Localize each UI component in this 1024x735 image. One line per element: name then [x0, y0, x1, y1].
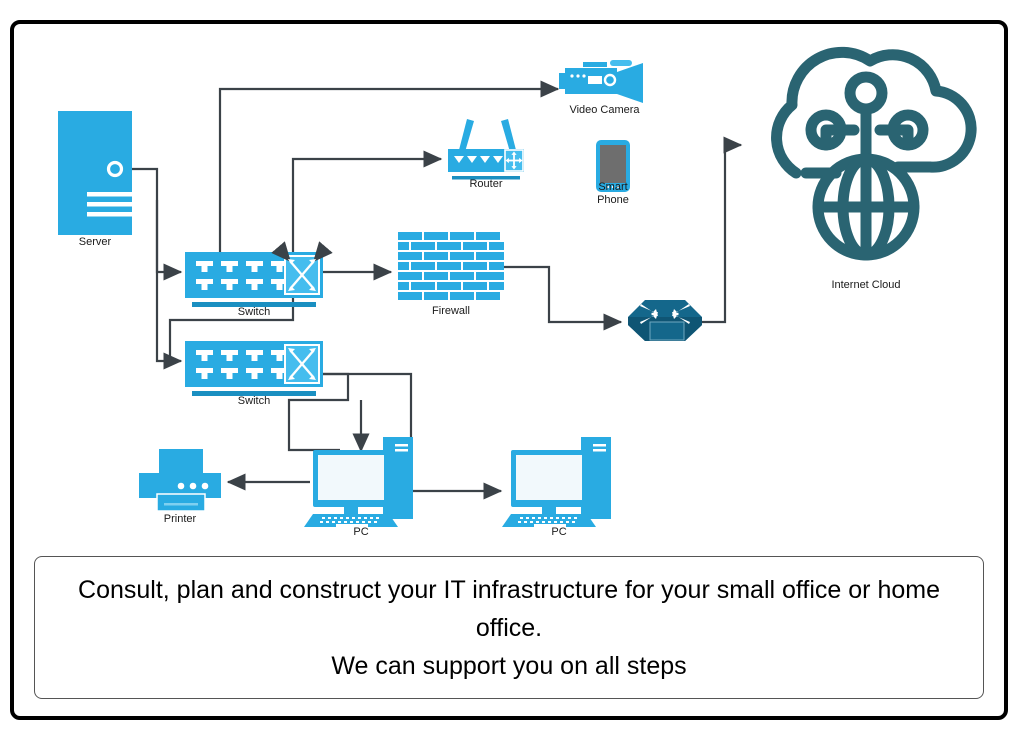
label-smart-phone: Smart Phone	[583, 181, 643, 207]
label-switch-top: Switch	[214, 306, 294, 319]
video-camera-icon	[559, 60, 643, 103]
desktop-pc-icon	[304, 437, 413, 527]
label-internet-cloud: Internet Cloud	[793, 279, 939, 292]
printer-icon	[139, 449, 221, 511]
label-server: Server	[55, 236, 135, 249]
desktop-pc-icon	[502, 437, 611, 527]
wifi-router-icon	[448, 119, 524, 180]
label-router: Router	[446, 178, 526, 191]
caption-line-1: Consult, plan and construct your IT infr…	[59, 571, 959, 647]
label-video-camera: Video Camera	[557, 104, 652, 117]
cloud-network-icon	[777, 52, 972, 255]
link-firewall-cisco-router	[504, 267, 621, 322]
network-switch-icon	[185, 341, 323, 396]
caption-line-2: We can support you on all steps	[331, 647, 686, 685]
cisco-router-icon	[628, 300, 702, 341]
label-switch-bottom: Switch	[214, 395, 294, 408]
firewall-brick-icon	[398, 232, 504, 300]
label-firewall: Firewall	[411, 305, 491, 318]
label-printer: Printer	[140, 513, 220, 526]
link-cisco-router-cloud	[702, 145, 741, 322]
caption-box: Consult, plan and construct your IT infr…	[34, 556, 984, 699]
label-pc-left: PC	[331, 526, 391, 539]
diagram-canvas: Server Switch Switch Video Camera Router…	[0, 0, 1024, 735]
server-icon	[58, 111, 142, 235]
network-switch-icon	[185, 252, 323, 307]
label-pc-right: PC	[529, 526, 589, 539]
